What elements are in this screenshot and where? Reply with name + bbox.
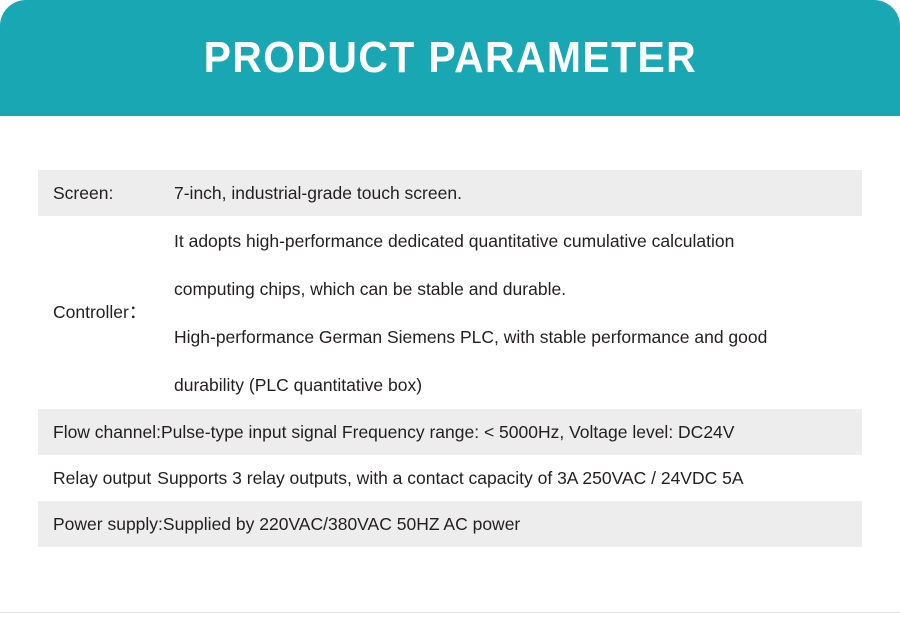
row-value-line: computing chips, which can be stable and… <box>174 265 862 313</box>
row-value-relay-output: Supports 3 relay outputs, with a contact… <box>157 467 743 489</box>
row-value-power-supply: Supplied by 220VAC/380VAC 50HZ AC power <box>163 513 520 535</box>
row-value-line: It adopts high-performance dedicated qua… <box>174 217 862 265</box>
table-row-relay-output: Relay output Supports 3 relay outputs, w… <box>38 455 862 501</box>
table-row-power-supply: Power supply: Supplied by 220VAC/380VAC … <box>38 501 862 547</box>
row-value-flow-channel: Pulse-type input signal Frequency range:… <box>161 421 734 443</box>
table-row-flow-channel: Flow channel: Pulse-type input signal Fr… <box>38 409 862 455</box>
row-label-relay-output: Relay output <box>53 467 151 489</box>
row-label-flow-channel: Flow channel: <box>53 421 161 443</box>
row-value-screen: 7-inch, industrial-grade touch screen. <box>174 182 862 204</box>
table-row-controller: Controller： It adopts high-performance d… <box>38 216 862 409</box>
page-header-banner: PRODUCT PARAMETER <box>0 0 900 116</box>
row-label-screen: Screen: <box>53 182 174 204</box>
row-value-text: 7-inch, industrial-grade touch screen. <box>174 183 462 203</box>
table-row-screen: Screen: 7-inch, industrial-grade touch s… <box>38 170 862 216</box>
row-value-line: durability (PLC quantitative box) <box>174 361 862 409</box>
row-value-line: High-performance German Siemens PLC, wit… <box>174 313 862 361</box>
row-label-power-supply: Power supply: <box>53 513 163 535</box>
page-title: PRODUCT PARAMETER <box>203 36 697 80</box>
bottom-divider <box>0 612 900 613</box>
product-parameter-table: Screen: 7-inch, industrial-grade touch s… <box>38 170 862 547</box>
row-value-controller: It adopts high-performance dedicated qua… <box>174 217 862 409</box>
row-label-controller: Controller： <box>53 301 174 323</box>
